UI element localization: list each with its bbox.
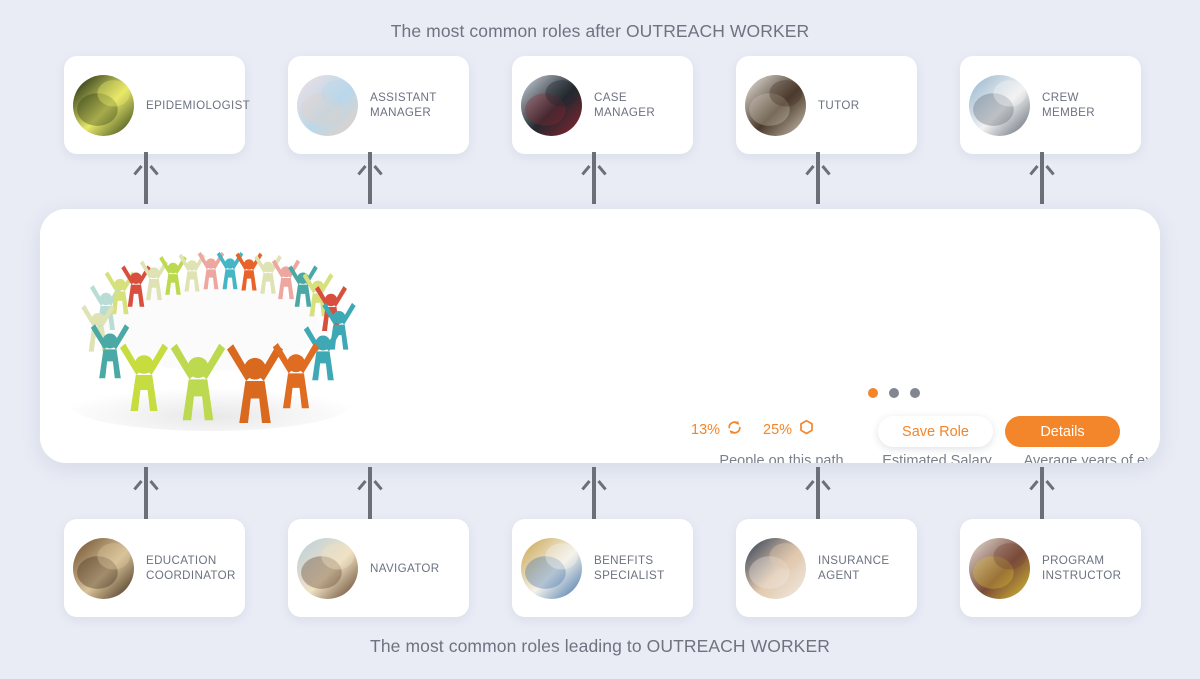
previous-role-card[interactable]: NAVIGATOR [288,519,469,617]
stat-label: Estimated Salary [862,453,1012,463]
stat-average-years-of-exp: Average years of exp 2.09 [1016,453,1160,463]
pastel-office-hands-photo [297,75,358,136]
carousel-dot[interactable] [889,388,899,398]
role-label: CREW MEMBER [1042,90,1095,120]
role-label: INSURANCE AGENT [818,553,889,583]
metric-value: 13% [691,422,720,438]
dark-green-lab-photo [73,75,134,136]
next-role-card[interactable]: TUTOR [736,56,917,154]
carousel-dot[interactable] [910,388,920,398]
flow-arrow-up [586,152,602,204]
books-library-photo [73,538,134,599]
flow-arrow-up [1034,467,1050,519]
carousel-dot[interactable] [868,388,878,398]
next-role-card[interactable]: EPIDEMIOLOGIST [64,56,245,154]
role-label: NAVIGATOR [370,561,440,576]
clipboard-forms-photo [521,538,582,599]
circle-of-paper-people-illustration [40,209,400,463]
stat-estimated-salary: Estimated Salary $ $48K [862,453,1012,463]
role-label: EPIDEMIOLOGIST [146,98,250,113]
role-label: ASSISTANT MANAGER [370,90,437,120]
stat-label: People on this path [704,453,859,463]
refresh-icon [726,419,743,440]
hexagon-icon [798,419,815,440]
role-label: CASE MANAGER [594,90,655,120]
classroom-teacher-photo [745,75,806,136]
role-label: TUTOR [818,98,859,113]
flow-arrow-up [810,467,826,519]
role-label: BENEFITS SPECIALIST [594,553,665,583]
flow-arrow-up [810,152,826,204]
metric-retention: 25% [763,419,815,440]
save-role-button[interactable]: Save Role [878,416,993,447]
flow-arrow-up [362,467,378,519]
details-button[interactable]: Details [1005,416,1120,447]
next-role-card[interactable]: CREW MEMBER [960,56,1141,154]
top-caption: The most common roles after OUTREACH WOR… [0,21,1200,42]
bottom-caption: The most common roles leading to OUTREAC… [0,636,1200,657]
previous-role-card[interactable]: EDUCATION COORDINATOR [64,519,245,617]
main-role-card[interactable]: OUTREACH WORKER People on this path 8 Es… [40,209,1160,463]
flow-arrow-up [1034,152,1050,204]
person-dark-jacket-photo [521,75,582,136]
stat-people-on-this-path: People on this path 8 [704,453,859,463]
airplane-crew-photo [969,75,1030,136]
road-sunset-photo [297,538,358,599]
flow-arrow-up [138,467,154,519]
flow-arrow-up [362,152,378,204]
stat-label: Average years of exp [1016,453,1160,463]
role-label: PROGRAM INSTRUCTOR [1042,553,1121,583]
child-crafts-photo [969,538,1030,599]
handshake-desk-photo [745,538,806,599]
metric-value: 25% [763,422,792,438]
next-role-card[interactable]: ASSISTANT MANAGER [288,56,469,154]
previous-role-card[interactable]: BENEFITS SPECIALIST [512,519,693,617]
next-role-card[interactable]: CASE MANAGER [512,56,693,154]
metric-growth: 13% [691,419,743,440]
flow-arrow-up [138,152,154,204]
previous-role-card[interactable]: PROGRAM INSTRUCTOR [960,519,1141,617]
role-label: EDUCATION COORDINATOR [146,553,236,583]
carousel-dots[interactable] [868,388,920,398]
previous-role-card[interactable]: INSURANCE AGENT [736,519,917,617]
flow-arrow-up [586,467,602,519]
